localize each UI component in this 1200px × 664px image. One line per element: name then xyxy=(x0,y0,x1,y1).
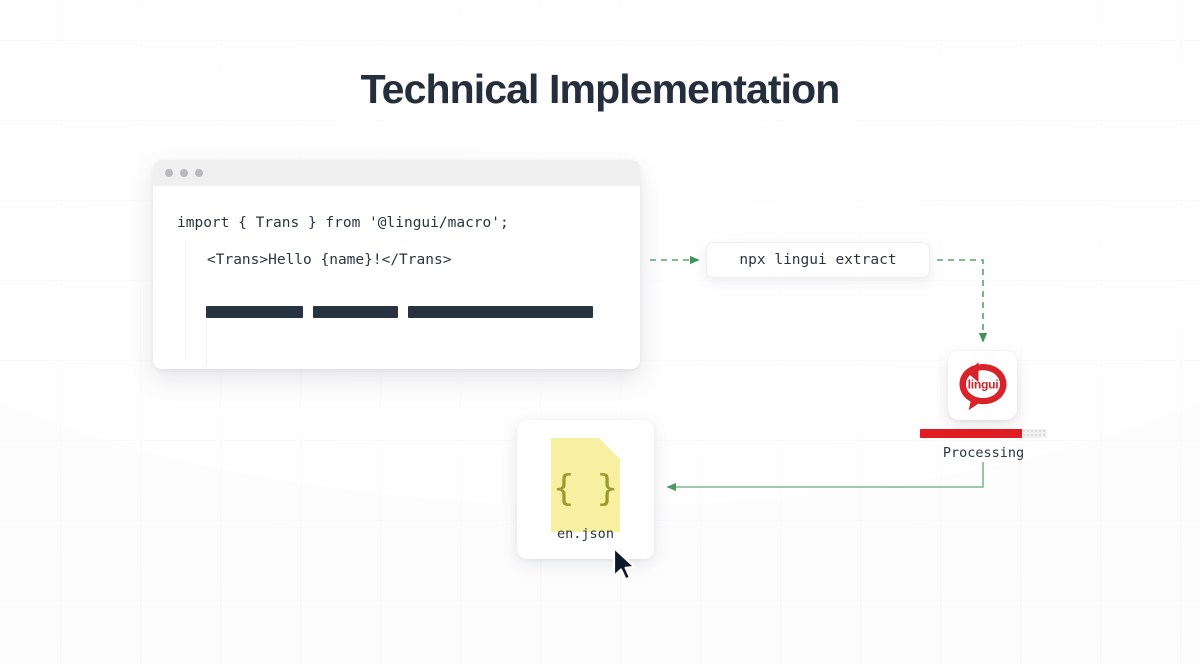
progress-fill xyxy=(920,429,1022,438)
command-chip-label: npx lingui extract xyxy=(739,252,896,268)
redacted-code-1 xyxy=(206,306,303,318)
window-titlebar xyxy=(153,160,640,186)
svg-text:{ }: { } xyxy=(553,468,618,509)
minimize-icon[interactable] xyxy=(180,169,188,177)
status-label: Processing xyxy=(900,445,1067,461)
code-editor-window[interactable]: import { Trans } from '@lingui/macro'; <… xyxy=(153,160,640,369)
close-icon[interactable] xyxy=(165,169,173,177)
maximize-icon[interactable] xyxy=(195,169,203,177)
progress-remainder xyxy=(1022,429,1047,438)
processing-progress-bar xyxy=(920,429,1047,438)
code-line-1: import { Trans } from '@lingui/macro'; xyxy=(177,216,640,231)
redacted-code-3 xyxy=(408,306,593,318)
processing-node[interactable]: lingui xyxy=(948,351,1017,420)
mouse-pointer-icon xyxy=(610,546,638,584)
svg-text:lingui: lingui xyxy=(967,377,998,391)
command-chip[interactable]: npx lingui extract xyxy=(706,242,930,278)
code-line-2: <Trans>Hello {name}!</Trans> xyxy=(177,253,640,268)
code-content[interactable]: import { Trans } from '@lingui/macro'; <… xyxy=(153,186,640,267)
redacted-code-2 xyxy=(313,306,398,318)
output-file-card[interactable]: { } en.json xyxy=(517,420,654,559)
output-file-name: en.json xyxy=(517,526,654,542)
json-file-icon: { } xyxy=(551,438,620,532)
indent-guide-1 xyxy=(185,240,186,360)
redacted-code-block xyxy=(206,306,593,318)
page-title: Technical Implementation xyxy=(0,66,1200,113)
lingui-logo-icon: lingui xyxy=(956,360,1010,412)
